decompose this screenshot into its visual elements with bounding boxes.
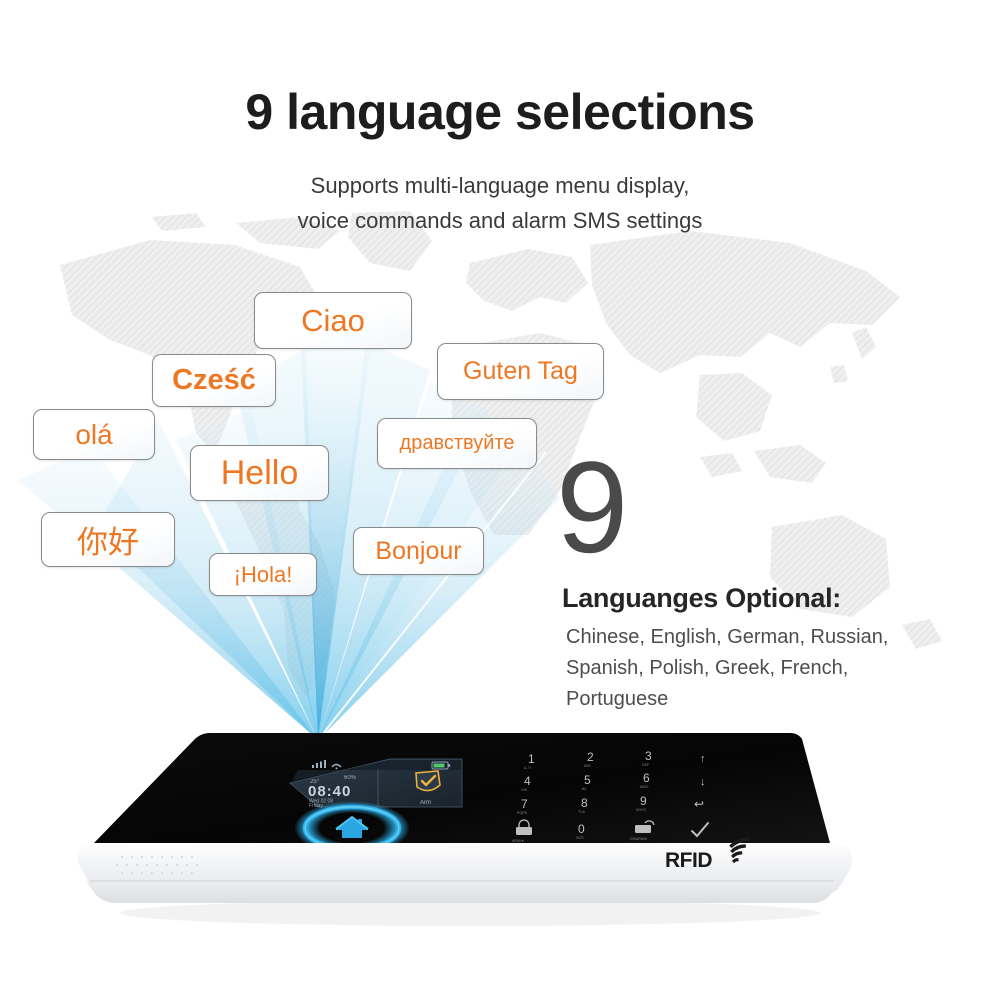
svg-text:ARM/★: ARM/★	[512, 839, 525, 843]
svg-text:ABC: ABC	[584, 764, 592, 768]
svg-text:1: 1	[528, 752, 535, 766]
promo-slide: 9 language selections Supports multi-lan…	[0, 0, 1000, 1000]
language-count: 9	[556, 452, 628, 562]
svg-text:TUV: TUV	[578, 810, 586, 814]
svg-text:0: 0	[578, 822, 585, 836]
key-down: ↓	[700, 776, 706, 788]
bubble-hola[interactable]: ¡Hola!	[209, 553, 317, 596]
svg-text:Arm: Arm	[420, 800, 431, 806]
svg-text:60%: 60%	[344, 775, 357, 781]
subtitle-line-1: Supports multi-language menu display,	[0, 168, 1000, 203]
languages-line-3: Portuguese	[566, 684, 986, 715]
svg-text:↑: ↑	[700, 753, 706, 765]
svg-text:2: 2	[587, 750, 594, 764]
svg-text:&.,!?: &.,!?	[524, 766, 531, 770]
rfid-label: RFID	[665, 849, 712, 872]
bubble-ola[interactable]: olá	[33, 409, 155, 460]
svg-text:7: 7	[521, 797, 528, 811]
page-title: 9 language selections	[0, 83, 1000, 141]
bubble-bonjour[interactable]: Bonjour	[353, 527, 484, 575]
languages-optional-title: Languanges Optional:	[562, 583, 841, 614]
languages-line-2: Spanish, Polish, Greek, French,	[566, 653, 986, 684]
svg-text:WXYZ: WXYZ	[636, 808, 647, 812]
svg-text:DEF: DEF	[642, 763, 650, 767]
svg-text:PQRS: PQRS	[517, 811, 528, 815]
svg-text:6: 6	[643, 771, 650, 785]
key-back: ↩	[694, 797, 704, 811]
page-subtitle: Supports multi-language menu display, vo…	[0, 168, 1000, 238]
svg-text:JKL: JKL	[581, 787, 587, 791]
bubble-guten-tag[interactable]: Guten Tag	[437, 343, 604, 400]
key-up: ↑	[700, 753, 706, 765]
alarm-panel-device: 25° 60% 08:40 Wed 02 08 Friday Arm	[60, 715, 860, 930]
svg-text:GHI: GHI	[521, 788, 527, 792]
svg-text:↩: ↩	[694, 797, 704, 811]
bubble-hello[interactable]: Hello	[190, 445, 329, 501]
device-body-base	[86, 881, 836, 903]
bubble-czesc[interactable]: Cześć	[152, 354, 276, 407]
svg-text:4: 4	[524, 774, 531, 788]
svg-text:↓: ↓	[700, 776, 706, 788]
shield-arm-icon	[416, 771, 440, 791]
svg-text:MNO: MNO	[640, 785, 649, 789]
svg-text:DISARM/#: DISARM/#	[630, 837, 647, 841]
svg-text:5: 5	[584, 773, 591, 787]
svg-text:3: 3	[645, 749, 652, 763]
languages-list: Chinese, English, German, Russian, Spani…	[566, 622, 986, 715]
bubble-zdravstvuyte[interactable]: дравствуйте	[377, 418, 537, 469]
bubble-nihao[interactable]: 你好	[41, 512, 175, 567]
svg-text:SOS: SOS	[576, 836, 584, 840]
svg-text:08:40: 08:40	[308, 783, 351, 800]
svg-text:9: 9	[640, 794, 647, 808]
svg-text:8: 8	[581, 796, 588, 810]
languages-line-1: Chinese, English, German, Russian,	[566, 622, 986, 653]
bubble-ciao[interactable]: Ciao	[254, 292, 412, 349]
